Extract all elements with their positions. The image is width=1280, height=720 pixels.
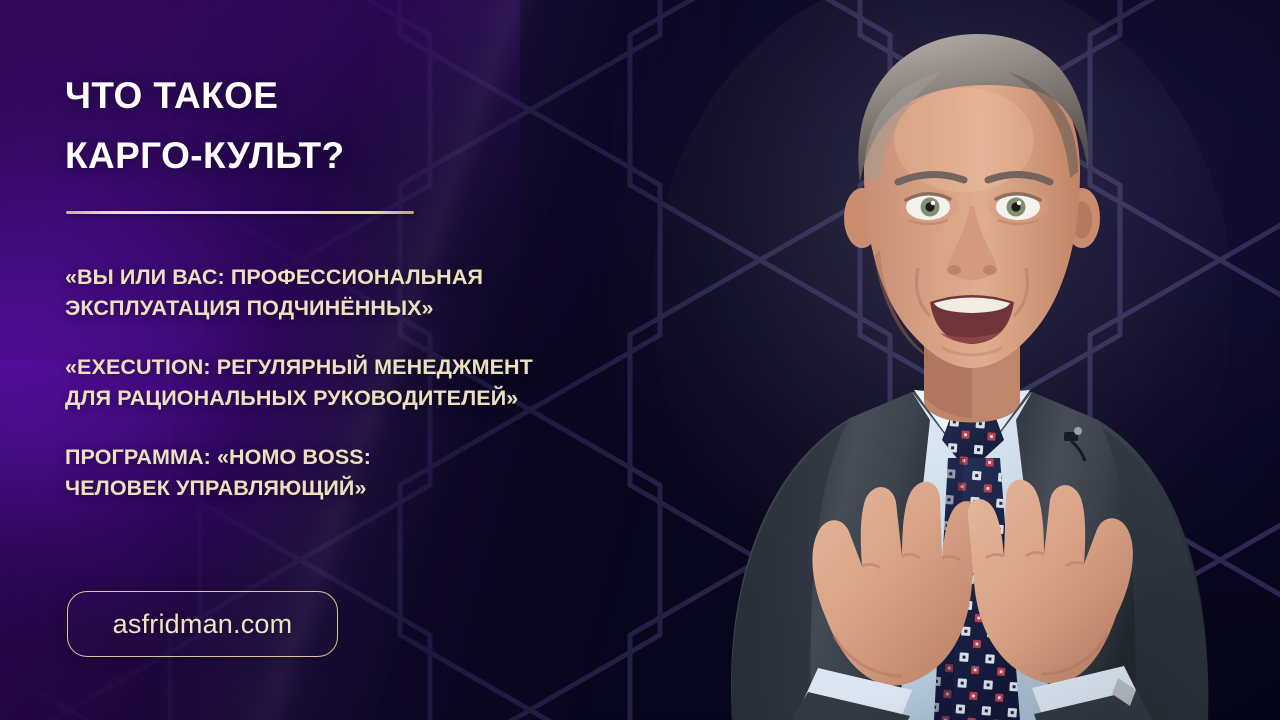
title-divider	[66, 211, 414, 214]
item-line: ЧЕЛОВЕК УПРАВЛЯЮЩИЙ»	[65, 473, 665, 504]
presentation-slide: ЧТО ТАКОЕ КАРГО-КУЛЬТ? «ВЫ ИЛИ ВАС: ПРОФ…	[0, 0, 1280, 720]
website-button-label: asfridman.com	[113, 609, 293, 640]
item-line: «EXECUTION: РЕГУЛЯРНЫЙ МЕНЕДЖМЕНТ	[65, 352, 665, 383]
title-line-2: КАРГО-КУЛЬТ?	[65, 126, 625, 186]
text-column: ЧТО ТАКОЕ КАРГО-КУЛЬТ? «ВЫ ИЛИ ВАС: ПРОФ…	[0, 0, 700, 720]
list-item: ПРОГРАММА: «HOMO BOSS: ЧЕЛОВЕК УПРАВЛЯЮЩ…	[65, 442, 665, 504]
page-title: ЧТО ТАКОЕ КАРГО-КУЛЬТ?	[65, 66, 625, 186]
website-button[interactable]: asfridman.com	[67, 591, 338, 657]
list-item: «EXECUTION: РЕГУЛЯРНЫЙ МЕНЕДЖМЕНТ ДЛЯ РА…	[65, 352, 665, 414]
item-line: ДЛЯ РАЦИОНАЛЬНЫХ РУКОВОДИТЕЛЕЙ»	[65, 383, 665, 414]
list-item: «ВЫ ИЛИ ВАС: ПРОФЕССИОНАЛЬНАЯ ЭКСПЛУАТАЦ…	[65, 262, 665, 324]
title-line-1: ЧТО ТАКОЕ	[65, 66, 625, 126]
item-line: ПРОГРАММА: «HOMO BOSS:	[65, 442, 665, 473]
book-list: «ВЫ ИЛИ ВАС: ПРОФЕССИОНАЛЬНАЯ ЭКСПЛУАТАЦ…	[65, 262, 665, 504]
item-line: ЭКСПЛУАТАЦИЯ ПОДЧИНЁННЫХ»	[65, 293, 665, 324]
item-line: «ВЫ ИЛИ ВАС: ПРОФЕССИОНАЛЬНАЯ	[65, 262, 665, 293]
